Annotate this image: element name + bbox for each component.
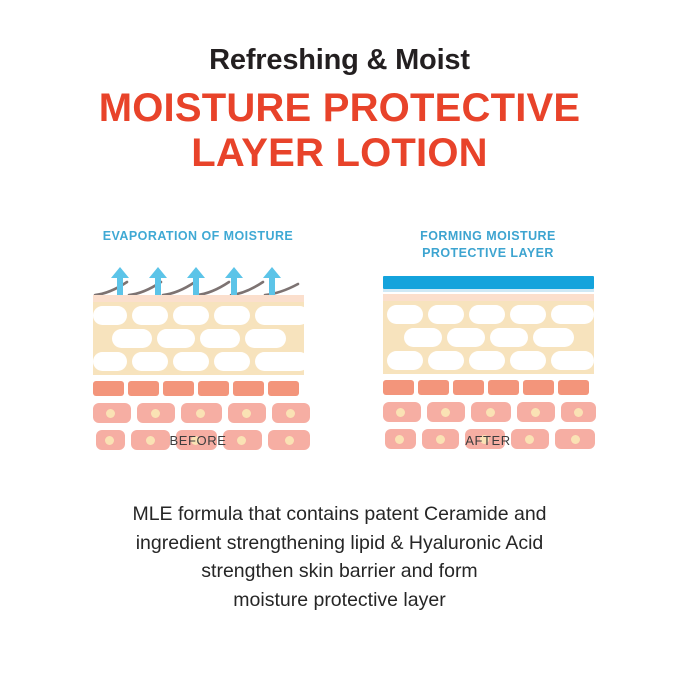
corneocyte-brick — [245, 329, 286, 348]
skin-cross-section-before — [93, 264, 304, 426]
corneocyte-brick — [428, 351, 464, 370]
panel-before-heading: EVAPORATION OF MOISTURE — [53, 228, 343, 264]
granular-cell — [488, 380, 519, 395]
stratum-corneum-after — [383, 301, 594, 374]
skin-comparison-diagram: EVAPORATION OF MOISTURE — [0, 228, 679, 463]
description-line-1: MLE formula that contains patent Ceramid… — [64, 500, 615, 529]
headings-block: Refreshing & Moist MOISTURE PROTECTIVE L… — [0, 44, 679, 176]
basal-cell — [383, 402, 421, 422]
stratum-band-before — [93, 295, 304, 302]
corneocyte-brick — [132, 352, 168, 371]
panel-after-heading-line-2: PROTECTIVE LAYER — [343, 245, 633, 262]
basal-cell — [427, 402, 465, 422]
stratum-band-after — [383, 294, 594, 301]
cell-nucleus — [531, 408, 540, 417]
corneocyte-brick — [200, 329, 240, 348]
granular-cell — [558, 380, 589, 395]
cell-nucleus — [486, 408, 495, 417]
corneocyte-brick — [387, 305, 423, 324]
title-line-1: MOISTURE PROTECTIVE — [0, 86, 679, 131]
cell-nucleus — [242, 409, 251, 418]
page-title: MOISTURE PROTECTIVE LAYER LOTION — [0, 86, 679, 176]
granular-cell — [163, 381, 194, 396]
corneocyte-brick — [510, 305, 546, 324]
corneocyte-row-3 — [383, 351, 598, 370]
panel-after-caption: AFTER — [343, 433, 633, 448]
corneocyte-brick — [469, 305, 505, 324]
panel-after-heading: FORMING MOISTURE PROTECTIVE LAYER — [343, 228, 633, 264]
corneocyte-brick — [551, 305, 594, 324]
corneocyte-row-2 — [383, 328, 594, 347]
corneocyte-brick — [93, 352, 127, 371]
description-line-3: strengthen skin barrier and form — [64, 557, 615, 586]
kicker-text: Refreshing & Moist — [0, 44, 679, 77]
corneocyte-brick — [490, 328, 528, 347]
corneocyte-brick — [428, 305, 464, 324]
corneocyte-brick — [173, 306, 209, 325]
corneocyte-brick — [214, 306, 250, 325]
cell-nucleus — [574, 408, 583, 417]
cell-nucleus — [286, 409, 295, 418]
granular-cell — [383, 380, 414, 395]
panel-before-caption: BEFORE — [53, 433, 343, 448]
basal-cell — [137, 403, 175, 423]
description-line-4: moisture protective layer — [64, 586, 615, 615]
panel-after: FORMING MOISTURE PROTECTIVE LAYER — [343, 228, 633, 426]
cell-nucleus — [106, 409, 115, 418]
panel-after-heading-line-1: FORMING MOISTURE — [343, 228, 633, 245]
basal-cell — [272, 403, 310, 423]
panel-before: EVAPORATION OF MOISTURE — [53, 228, 343, 426]
granular-cell — [198, 381, 229, 396]
corneocyte-brick — [551, 351, 594, 370]
cell-nucleus — [441, 408, 450, 417]
title-line-2: LAYER LOTION — [0, 131, 679, 176]
basal-cell-row-1 — [383, 402, 594, 422]
basal-cell — [228, 403, 266, 423]
corneocyte-brick — [173, 352, 209, 371]
corneocyte-brick — [112, 329, 152, 348]
skin-cross-section-after — [383, 264, 594, 426]
corneocyte-brick — [255, 306, 309, 325]
corneocyte-brick — [447, 328, 485, 347]
cell-nucleus — [196, 409, 205, 418]
corneocyte-row-1 — [93, 306, 304, 325]
corneocyte-row-1 — [383, 305, 598, 324]
granular-cell — [93, 381, 124, 396]
granular-layer-after — [383, 380, 594, 395]
stratum-corneum-before — [93, 302, 304, 375]
granular-cell — [233, 381, 264, 396]
description-line-2: ingredient strengthening lipid & Hyaluro… — [64, 529, 615, 558]
panel-before-heading-line-1: EVAPORATION OF MOISTURE — [53, 228, 343, 245]
granular-cell — [523, 380, 554, 395]
corneocyte-brick — [93, 306, 127, 325]
basal-cell — [181, 403, 222, 423]
product-infographic: Refreshing & Moist MOISTURE PROTECTIVE L… — [0, 0, 679, 679]
description-paragraph: MLE formula that contains patent Ceramid… — [64, 500, 615, 615]
basal-cell — [93, 403, 131, 423]
granular-layer-before — [93, 381, 304, 396]
corneocyte-brick — [533, 328, 574, 347]
granular-cell — [453, 380, 484, 395]
corneocyte-brick — [214, 352, 250, 371]
granular-cell — [418, 380, 449, 395]
granular-cell — [268, 381, 299, 396]
corneocyte-brick — [132, 306, 168, 325]
basal-cell — [561, 402, 596, 422]
granular-cell — [128, 381, 159, 396]
corneocyte-brick — [157, 329, 195, 348]
basal-cell-row-1 — [93, 403, 304, 423]
corneocyte-brick — [387, 351, 423, 370]
basal-cell — [517, 402, 555, 422]
corneocyte-row-2 — [93, 329, 304, 348]
moisture-protective-film — [383, 276, 594, 289]
cell-nucleus — [396, 408, 405, 417]
corneocyte-brick — [404, 328, 442, 347]
moisture-film-shadow — [383, 289, 594, 292]
corneocyte-brick — [255, 352, 309, 371]
cell-nucleus — [151, 409, 160, 418]
basal-cell — [471, 402, 511, 422]
corneocyte-brick — [469, 351, 505, 370]
corneocyte-brick — [510, 351, 546, 370]
corneocyte-row-3 — [93, 352, 304, 371]
